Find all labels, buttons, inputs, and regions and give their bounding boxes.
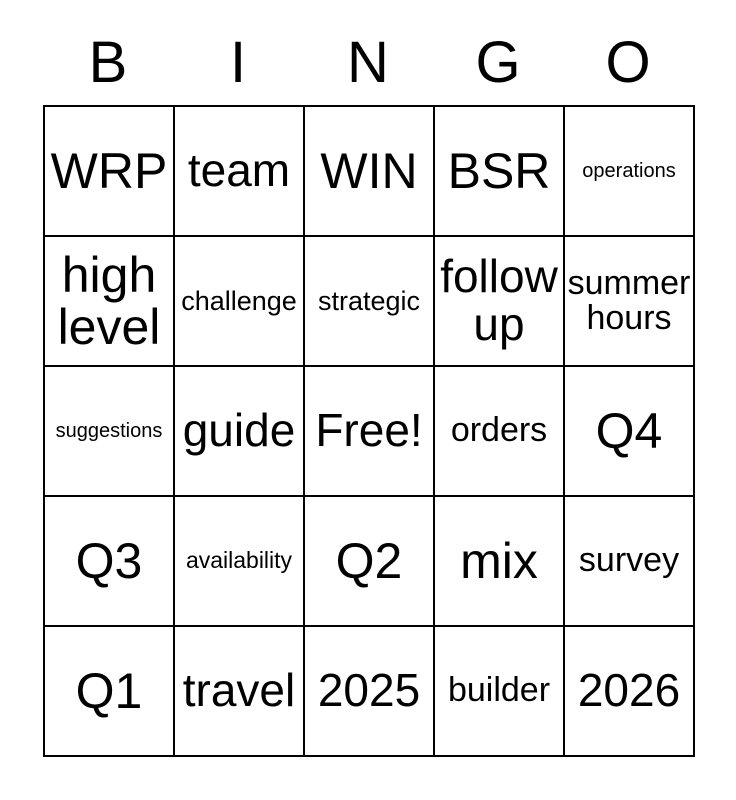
bingo-cell[interactable]: guide (175, 367, 305, 497)
bingo-cell[interactable]: builder (435, 627, 565, 757)
bingo-grid: WRPteamWINBSRoperationshigh levelchallen… (43, 105, 695, 757)
bingo-cell[interactable]: follow up (435, 237, 565, 367)
bingo-header: BINGO (43, 22, 693, 104)
bingo-cell[interactable]: team (175, 107, 305, 237)
bingo-cell-label: Q3 (45, 535, 173, 587)
bingo-cell[interactable]: WIN (305, 107, 435, 237)
bingo-cell-label: strategic (305, 287, 433, 315)
bingo-cell[interactable]: survey (565, 497, 695, 627)
bingo-cell[interactable]: 2025 (305, 627, 435, 757)
bingo-cell[interactable]: Q4 (565, 367, 695, 497)
bingo-cell[interactable]: mix (435, 497, 565, 627)
bingo-cell-label: Free! (305, 407, 433, 455)
bingo-cell[interactable]: 2026 (565, 627, 695, 757)
bingo-cell[interactable]: summer hours (565, 237, 695, 367)
bingo-cell-label: availability (175, 549, 303, 573)
bingo-cell-label: Q2 (305, 535, 433, 587)
bingo-cell[interactable]: travel (175, 627, 305, 757)
bingo-cell-label: operations (565, 161, 693, 182)
bingo-cell[interactable]: availability (175, 497, 305, 627)
bingo-header-letter-1: I (173, 22, 303, 104)
bingo-header-letter-3: G (433, 22, 563, 104)
bingo-header-letter-2: N (303, 22, 433, 104)
bingo-cell[interactable]: Q3 (45, 497, 175, 627)
bingo-cell[interactable]: Q2 (305, 497, 435, 627)
bingo-cell-label: Q1 (45, 665, 173, 717)
bingo-cell[interactable]: strategic (305, 237, 435, 367)
bingo-cell-label: BSR (435, 145, 563, 197)
bingo-cell[interactable]: orders (435, 367, 565, 497)
bingo-cell[interactable]: BSR (435, 107, 565, 237)
bingo-cell-label: Q4 (565, 405, 693, 457)
bingo-cell-label: challenge (175, 287, 303, 315)
bingo-cell-label: WIN (305, 145, 433, 197)
bingo-cell-label: builder (435, 673, 563, 708)
bingo-header-letter-4: O (563, 22, 693, 104)
bingo-cell-label: travel (175, 667, 303, 715)
bingo-cell[interactable]: challenge (175, 237, 305, 367)
bingo-cell-label: summer hours (565, 266, 693, 337)
bingo-cell-label: guide (175, 407, 303, 455)
bingo-cell-label: follow up (435, 253, 563, 349)
bingo-cell-label: team (175, 147, 303, 195)
bingo-cell[interactable]: Free! (305, 367, 435, 497)
bingo-cell[interactable]: operations (565, 107, 695, 237)
bingo-header-letter-0: B (43, 22, 173, 104)
bingo-cell-label: suggestions (45, 421, 173, 442)
bingo-cell-label: orders (435, 413, 563, 448)
bingo-cell[interactable]: Q1 (45, 627, 175, 757)
bingo-cell[interactable]: WRP (45, 107, 175, 237)
bingo-card: BINGO WRPteamWINBSRoperationshigh levelc… (0, 0, 736, 800)
bingo-cell-label: survey (565, 543, 693, 578)
bingo-cell-label: high level (45, 249, 173, 353)
bingo-cell-label: WRP (45, 145, 173, 197)
bingo-cell[interactable]: suggestions (45, 367, 175, 497)
bingo-cell-label: mix (435, 535, 563, 587)
bingo-cell[interactable]: high level (45, 237, 175, 367)
bingo-cell-label: 2026 (565, 667, 693, 715)
bingo-cell-label: 2025 (305, 667, 433, 715)
